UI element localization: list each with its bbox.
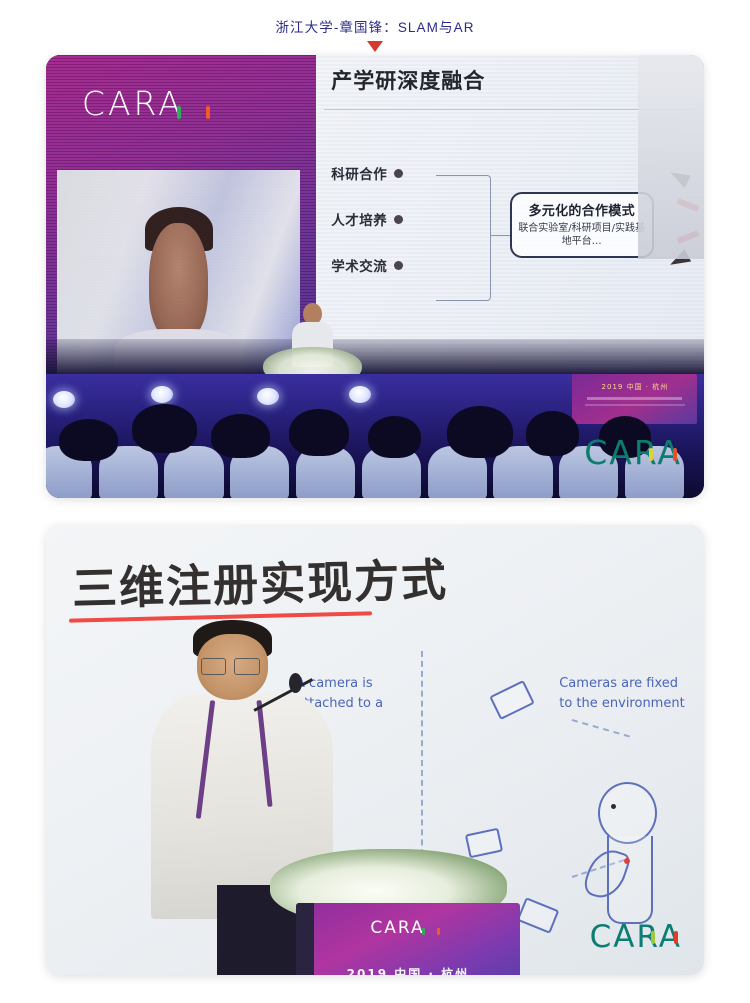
- podium: CARA 2019 中国 · 杭州: [296, 903, 520, 975]
- down-triangle-icon: [367, 41, 383, 52]
- audience-head: [289, 409, 348, 456]
- cara-orange-accent-icon: [437, 928, 440, 935]
- watermark-text: CARA: [590, 919, 682, 955]
- stick-figure-icon: [592, 782, 664, 917]
- caption-bar: 浙江大学-章国锋：SLAM与AR: [0, 0, 750, 40]
- stage-side-wall: [638, 55, 704, 259]
- podium-cara-logo: CARA: [296, 918, 520, 938]
- microphone-head-icon: [289, 673, 302, 693]
- audience-head: [526, 411, 579, 456]
- speaker-glasses-left: [201, 658, 227, 675]
- speaker-closeup-photo[interactable]: 三维注册实现方式 A camera is attached to a user …: [46, 525, 704, 975]
- camera-icon: [465, 828, 503, 859]
- watermark-accent-orange-icon: [673, 448, 677, 461]
- audience-head: [132, 404, 198, 454]
- bullet-label: 科研合作: [331, 163, 387, 183]
- podium-line-one: 2019 中国 · 杭州: [296, 965, 520, 975]
- led-wall: CARA: [46, 55, 322, 374]
- banner-year-label: 2019 中国 · 杭州: [572, 382, 697, 392]
- camera-icon: [516, 897, 559, 934]
- bullet-label: 学术交流: [331, 255, 387, 275]
- stage-light-icon: [349, 386, 371, 403]
- slide-text-right: Cameras are fixed to the environment: [559, 674, 691, 714]
- slide-title: 产学研深度融合: [331, 65, 485, 95]
- bracket-connector: [436, 175, 491, 301]
- led-cara-logo: CARA: [82, 84, 219, 123]
- bracket-stub: [490, 235, 509, 236]
- bullet-dot-icon: [394, 169, 403, 178]
- stage-light-icon: [257, 388, 279, 405]
- speaker-glasses-right: [234, 658, 260, 675]
- watermark-text: CARA: [584, 433, 682, 472]
- audience-head: [59, 419, 118, 461]
- callout-heading: 多元化的合作模式: [518, 200, 646, 219]
- podium-cara-text: CARA: [370, 918, 424, 938]
- bullet-dot-icon: [394, 261, 403, 270]
- cara-watermark: CARA: [590, 919, 690, 955]
- sight-line: [572, 719, 630, 737]
- conference-stage-photo[interactable]: CARA 产学研深度融合 科研合作 人才培养 学术交流: [46, 55, 704, 498]
- page-title: 浙江大学-章国锋：SLAM与AR: [275, 16, 474, 36]
- cara-watermark: CARA: [584, 433, 690, 472]
- led-speaker-face: [149, 223, 207, 341]
- audience-head: [447, 406, 513, 458]
- stage-light-icon: [151, 386, 173, 403]
- audience-seat: [164, 446, 223, 498]
- cara-orange-accent-icon: [206, 106, 210, 119]
- callout-box: 多元化的合作模式 联合实验室/科研项目/实践基地平台…: [510, 192, 654, 258]
- audience-head: [211, 414, 270, 459]
- slide-title: 三维注册实现方式: [72, 543, 449, 617]
- watermark-accent-green-icon: [651, 931, 655, 944]
- watermark-accent-yellow-icon: [649, 448, 653, 461]
- led-cara-text: CARA: [82, 84, 184, 123]
- callout-subtext: 联合实验室/科研项目/实践基地平台…: [518, 222, 646, 248]
- cara-green-accent-icon: [177, 106, 181, 119]
- cara-green-accent-icon: [422, 928, 425, 935]
- bullet-dot-icon: [394, 215, 403, 224]
- stage-light-icon: [53, 391, 75, 408]
- banner-stripe: [587, 397, 682, 400]
- presentation-screen: 三维注册实现方式 A camera is attached to a user …: [46, 525, 704, 975]
- audience-head: [368, 416, 421, 458]
- watermark-accent-red-icon: [674, 931, 678, 944]
- bullet-label: 人才培养: [331, 209, 387, 229]
- figure-head: [598, 782, 657, 844]
- camera-icon: [490, 680, 536, 720]
- banner-stripe: [585, 404, 685, 406]
- slide-title-divider: [324, 109, 693, 110]
- side-banner: 2019 中国 · 杭州: [572, 374, 697, 424]
